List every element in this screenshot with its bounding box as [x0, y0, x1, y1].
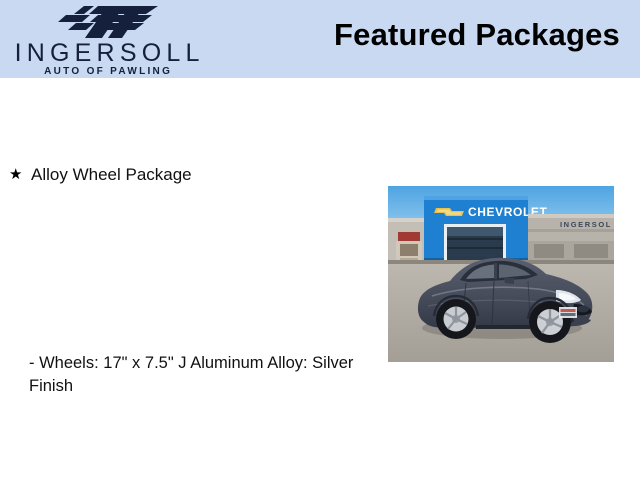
brand-logo[interactable]: INGERSOLL AUTO OF PAWLING [6, 3, 208, 77]
brand-tagline: AUTO OF PAWLING [6, 67, 208, 77]
package-list: ★ Alloy Wheel Package [0, 164, 380, 186]
star-bullet-icon: ★ [9, 164, 22, 186]
package-detail-text: - Wheels: 17" x 7.5" J Aluminum Alloy: S… [29, 352, 359, 398]
slide-page: INGERSOLL AUTO OF PAWLING Featured Packa… [0, 0, 640, 480]
svg-text:INGERSOL: INGERSOL [560, 220, 612, 229]
list-item: ★ Alloy Wheel Package [0, 164, 380, 186]
page-title: Featured Packages [334, 16, 620, 54]
package-label: Alloy Wheel Package [31, 165, 192, 184]
ingersoll-wing-emblem-icon [54, 5, 160, 39]
brand-name: INGERSOLL [6, 41, 208, 66]
vehicle-photo-image: CHEVROLET INGERSOL [388, 186, 614, 362]
header-band: INGERSOLL AUTO OF PAWLING Featured Packa… [0, 0, 640, 78]
vehicle-photo: CHEVROLET INGERSOL [388, 186, 614, 362]
